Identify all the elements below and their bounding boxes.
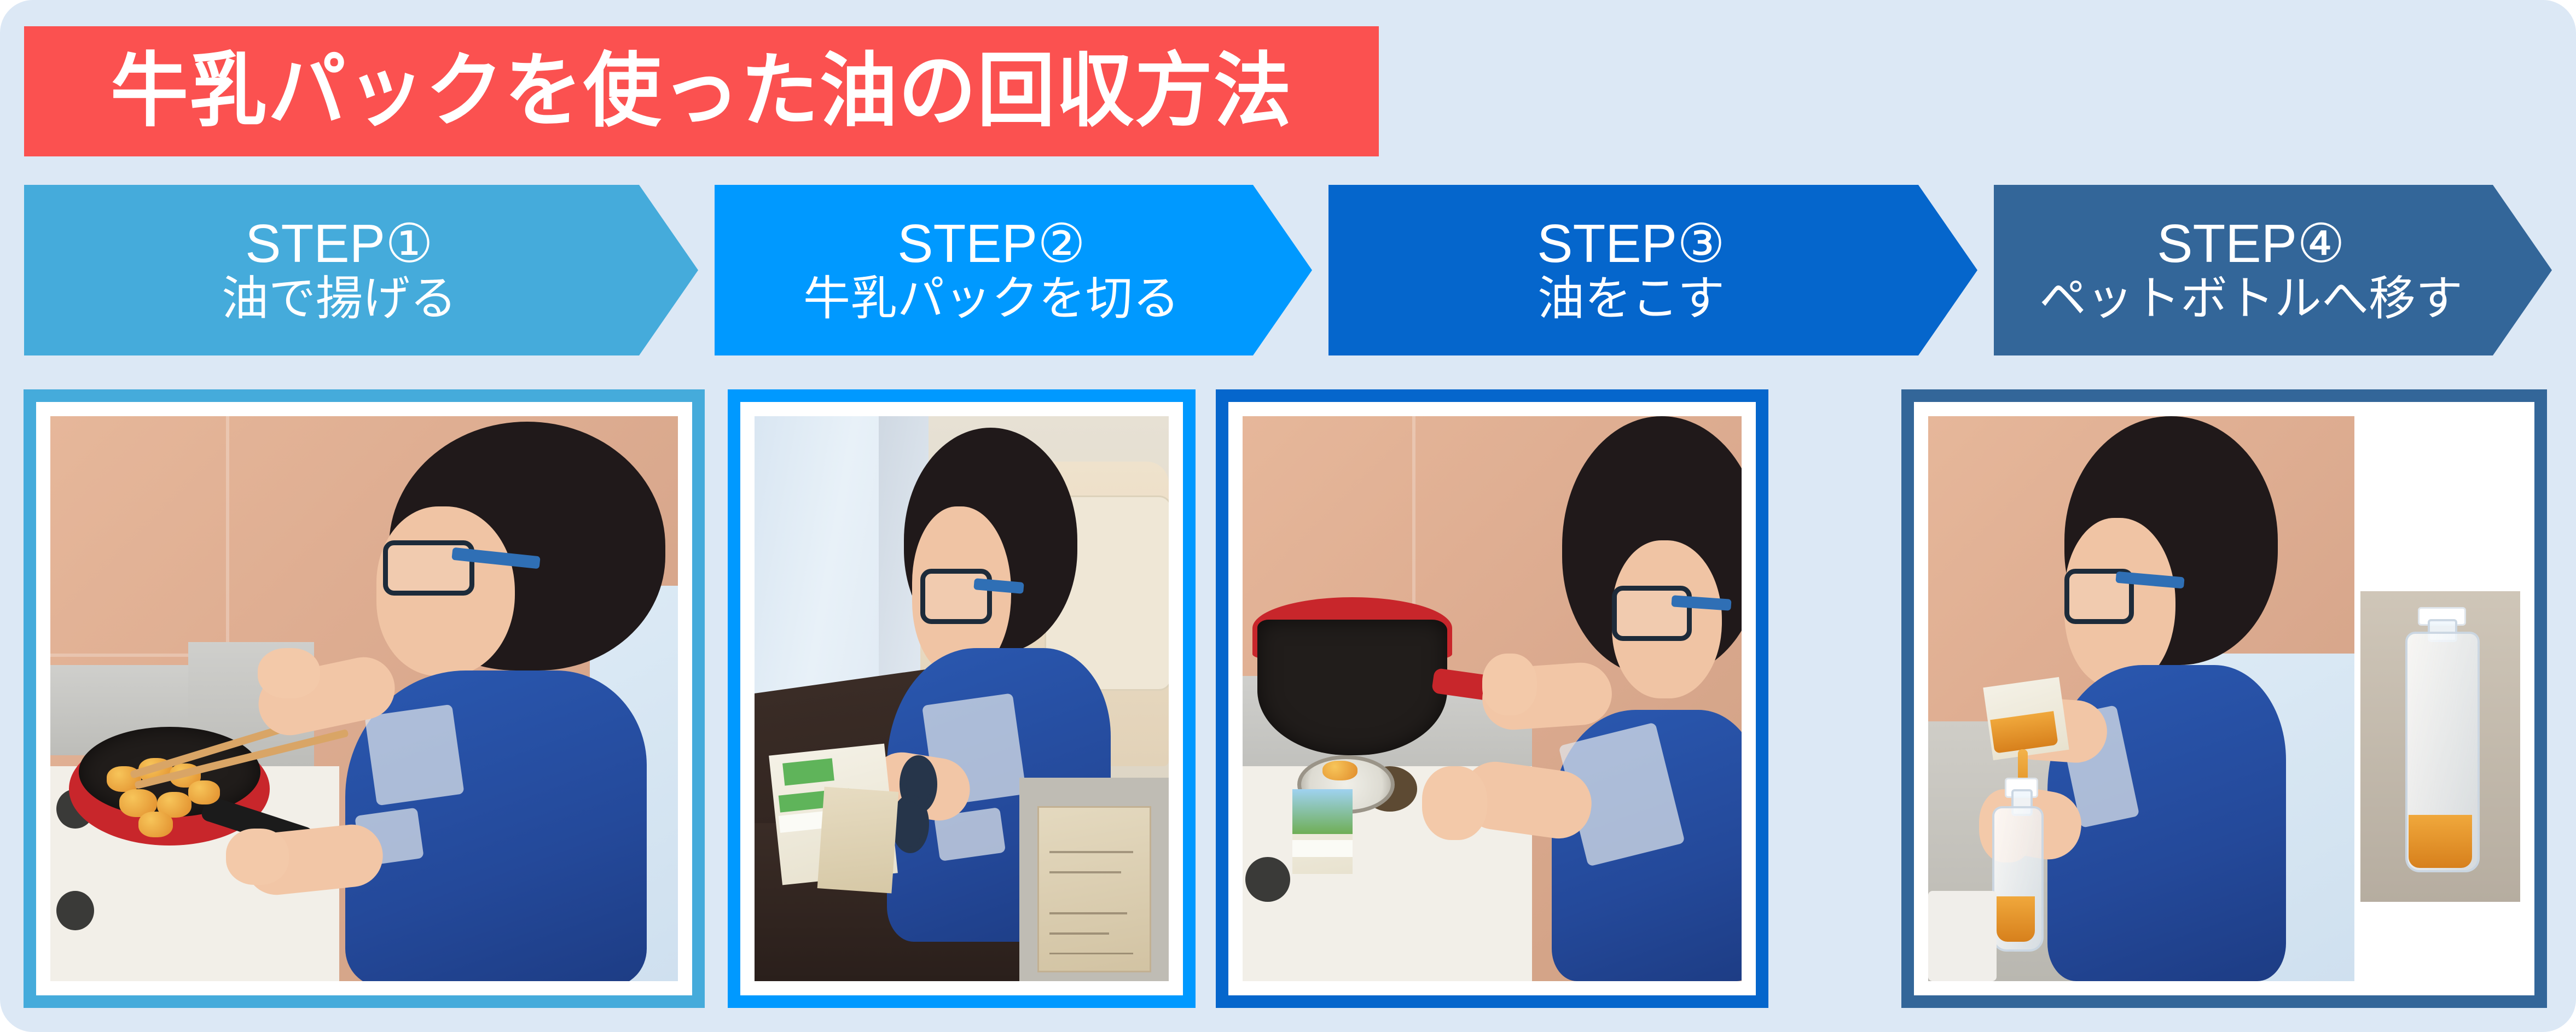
photo-frame-step-3 [1216,389,1768,1008]
photo-step-2-cutting-carton [755,416,1169,981]
photo-frame-step-4 [1901,389,2547,1008]
photo-step-3-straining-oil [1243,416,1742,981]
photo-frame-step-1 [24,389,705,1008]
photo-frames [0,0,2576,1032]
photo-step-4-transfer-to-bottle [1928,416,2520,981]
infographic-page: 牛乳パックを使った油の回収方法 STEP① 油で揚げる STEP② 牛乳パックを… [0,0,2576,1032]
inset-photo-opened-carton [1019,778,1169,981]
photo-frame-step-2 [728,389,1196,1008]
photo-step-1-frying [50,416,678,981]
inset-photo-bottle-with-oil [2360,591,2520,902]
